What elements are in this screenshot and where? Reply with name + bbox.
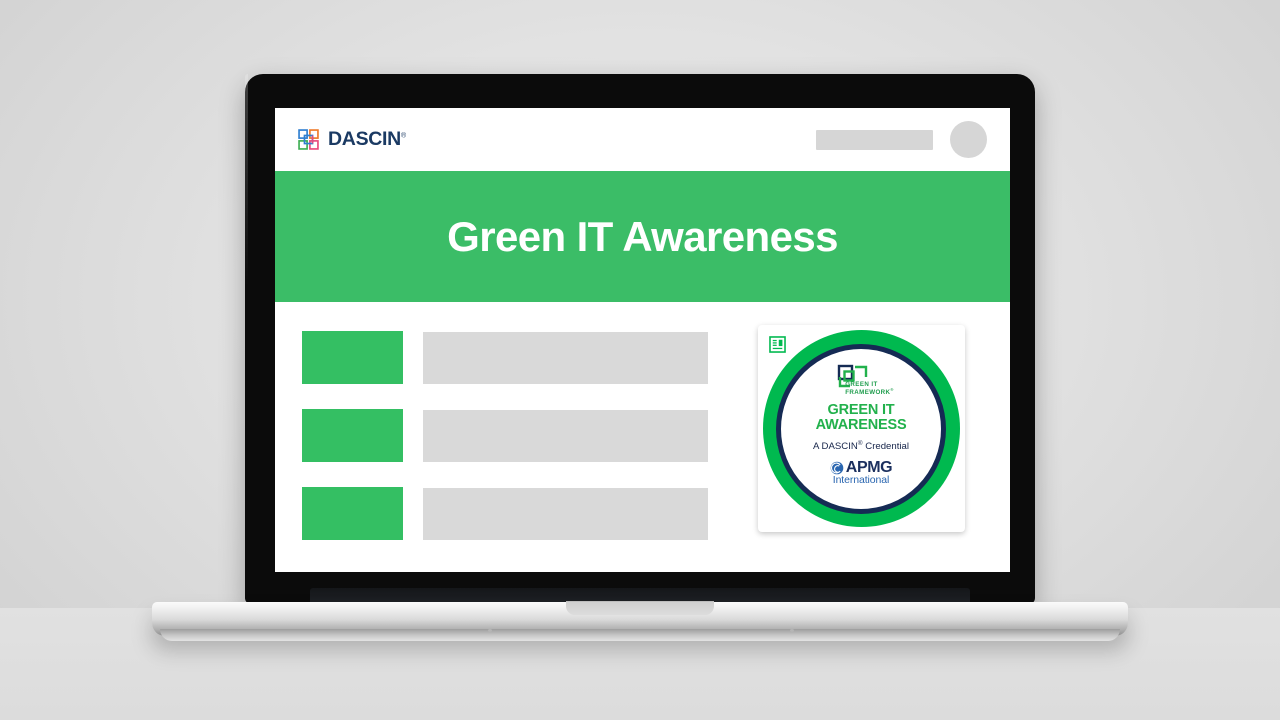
- badge-title-line1: GREEN IT: [816, 403, 907, 418]
- row-green-block[interactable]: [302, 487, 403, 540]
- site-header: DASCIN®: [275, 108, 1010, 171]
- credential-badge[interactable]: GREEN IT FRAMEWORK® GREEN IT AWARENESS A…: [758, 325, 965, 532]
- row-placeholder-bar: [423, 488, 708, 540]
- green-it-framework-wordmark: GREEN IT FRAMEWORK®: [845, 381, 894, 396]
- badge-inner-disc: GREEN IT FRAMEWORK® GREEN IT AWARENESS A…: [776, 344, 946, 514]
- row-placeholder-bar: [423, 332, 708, 384]
- row-placeholder-bar: [423, 410, 708, 462]
- header-right-group: [816, 121, 987, 158]
- laptop-foot-right: [790, 629, 794, 632]
- apmg-accreditor-logo: APMG International: [830, 460, 892, 487]
- badge-title: GREEN IT AWARENESS: [816, 403, 907, 433]
- badge-column: GREEN IT FRAMEWORK® GREEN IT AWARENESS A…: [734, 322, 988, 572]
- brand-name: DASCIN®: [328, 130, 406, 150]
- laptop-screen: DASCIN® Green IT Awareness: [275, 108, 1010, 572]
- brand-trademark: ®: [401, 132, 406, 139]
- scene-stage: DASCIN® Green IT Awareness: [0, 0, 1280, 720]
- laptop-base-edge: [160, 629, 1120, 641]
- content-rows: [302, 322, 708, 572]
- content-row[interactable]: [302, 409, 708, 462]
- page-body: GREEN IT FRAMEWORK® GREEN IT AWARENESS A…: [275, 302, 1010, 572]
- content-row[interactable]: [302, 487, 708, 540]
- laptop-foot-left: [488, 629, 492, 632]
- apmg-scope: International: [833, 475, 890, 487]
- avatar[interactable]: [950, 121, 987, 158]
- green-it-framework-logo: GREEN IT FRAMEWORK®: [828, 364, 894, 396]
- laptop-notch: [566, 601, 714, 615]
- brand-logo[interactable]: DASCIN®: [298, 129, 406, 150]
- page-title: Green IT Awareness: [447, 213, 838, 261]
- badge-outer-ring: GREEN IT FRAMEWORK® GREEN IT AWARENESS A…: [763, 330, 960, 527]
- apmg-swirl-icon: [830, 461, 844, 475]
- certificate-document-icon: [764, 331, 791, 358]
- certificate-glyph-icon: [768, 335, 787, 354]
- header-placeholder-bar[interactable]: [816, 130, 933, 150]
- badge-title-line2: AWARENESS: [816, 418, 907, 433]
- content-row[interactable]: [302, 331, 708, 384]
- row-green-block[interactable]: [302, 409, 403, 462]
- row-green-block[interactable]: [302, 331, 403, 384]
- laptop-device: DASCIN® Green IT Awareness: [0, 0, 1280, 720]
- dascin-interlocking-squares-logo-icon: [298, 129, 319, 150]
- badge-subtitle: A DASCIN® Credential: [813, 440, 909, 452]
- title-banner: Green IT Awareness: [275, 171, 1010, 302]
